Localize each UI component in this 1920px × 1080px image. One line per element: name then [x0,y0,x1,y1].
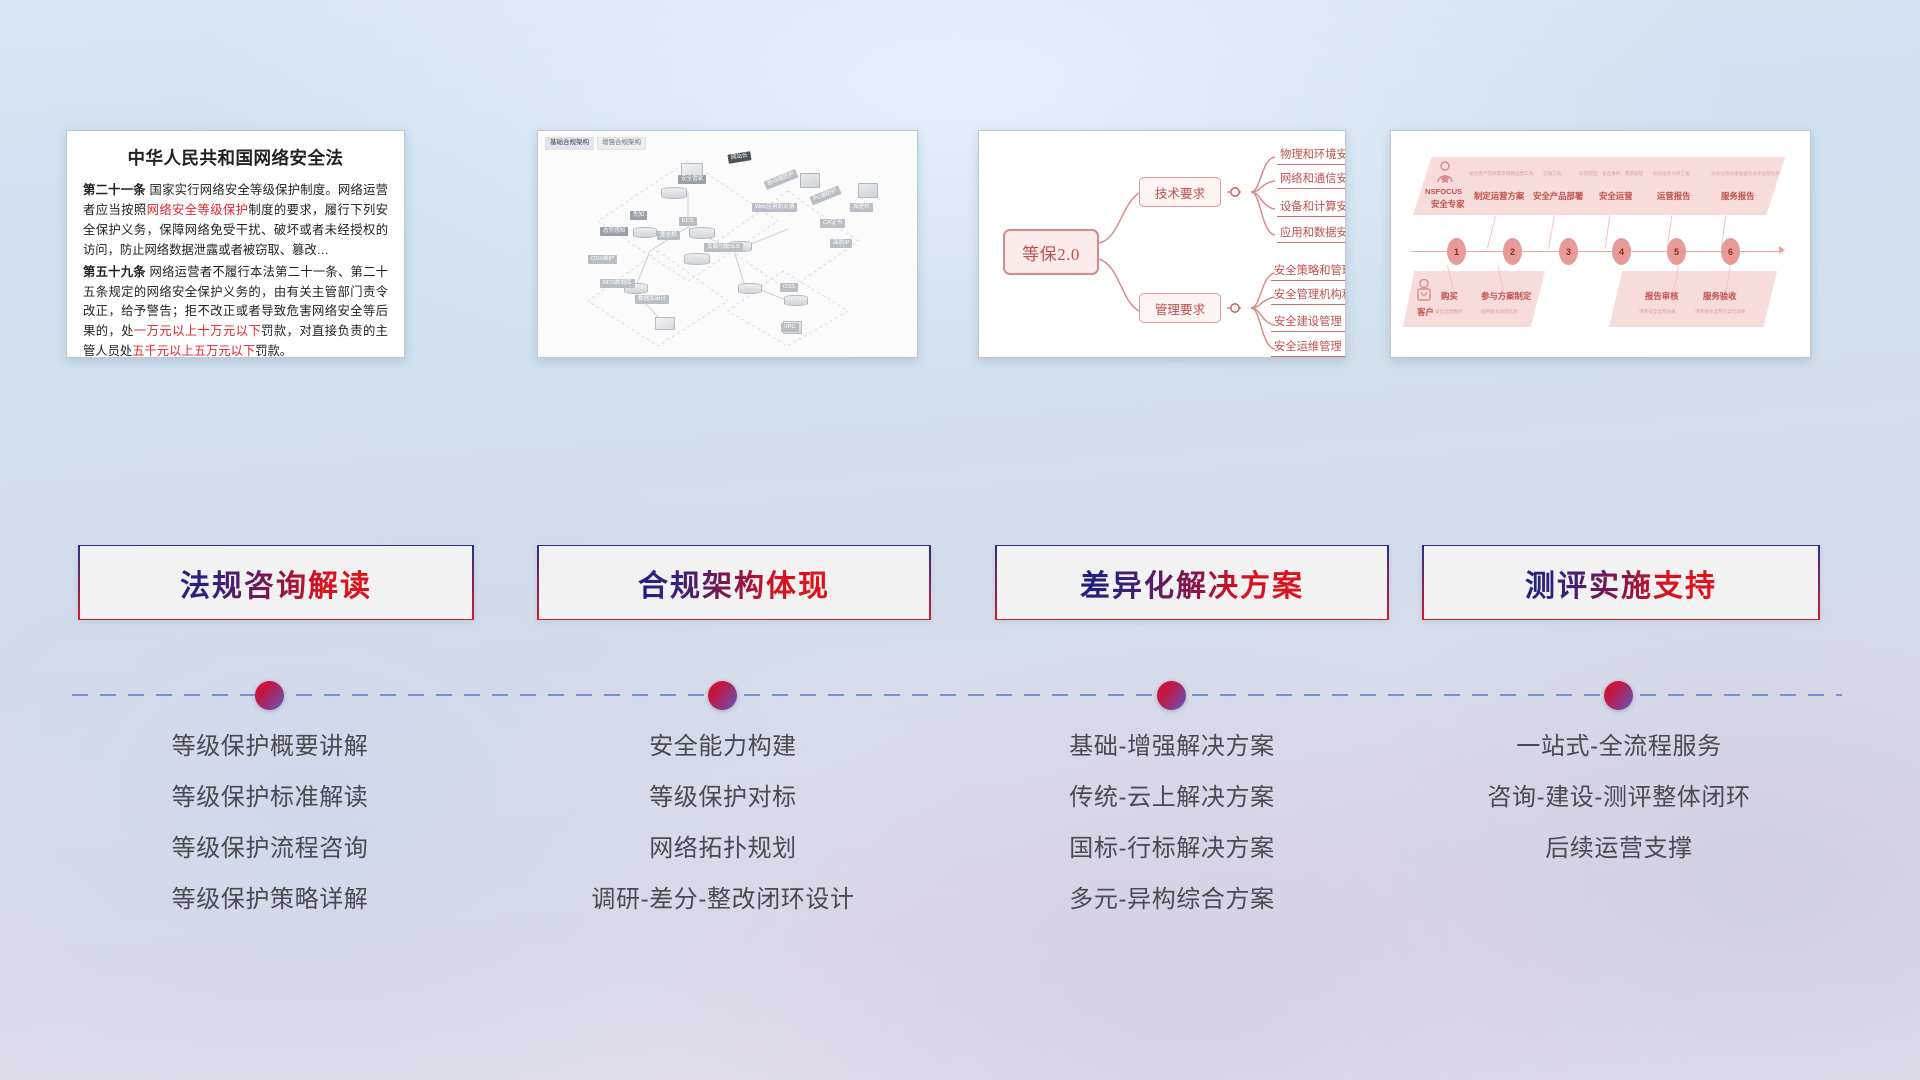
mindmap-leaf-physical-environment-security[interactable]: 物理和环境安全 [1277,149,1346,165]
bottom-step-title-3: 报告审核 [1645,291,1679,301]
step-title-5: 服务报告 [1721,191,1755,201]
arch-label-anti-ddos-ip: 高防IP [830,239,852,248]
timeline-tick [1605,215,1611,249]
list-item: 基础-增强解决方案 [957,735,1387,759]
column-differentiated-solution: 基础-增强解决方案 传统-云上解决方案 国标-行标解决方案 多元-异构综合方案 [957,735,1387,939]
headline-label: 测评实施支持 [1525,561,1717,605]
law-article-21-highlight: 网络安全等级保护 [147,203,249,217]
security-expert-icon [1435,161,1455,183]
list-item: 等级保护对标 [508,786,938,810]
list-item: 多元-异构综合方案 [957,888,1387,912]
column-assessment-support: 一站式-全流程服务 咨询-建设-测评整体闭环 后续运营支撑 [1404,735,1834,888]
law-title: 中华人民共和国网络安全法 [83,145,388,170]
timeline-step-number: 1 [1447,238,1466,265]
nsfocus-brand-sub: 安全专家 [1431,199,1465,209]
mindmap-branch-technical[interactable]: 技术要求 [1139,177,1221,207]
timeline-step-number: 4 [1612,238,1631,265]
headline-box-assessment-support[interactable]: 测评实施支持 [1422,545,1820,620]
timeline-arrow-icon [1779,246,1785,254]
list-item: 一站式-全流程服务 [1404,735,1834,759]
list-item: 传统-云上解决方案 [957,786,1387,810]
bottom-step-sub-3: 评审安全运营效果 [1639,309,1676,315]
arch-monitor-icon [800,173,820,188]
timeline-tick [1487,215,1496,248]
law-article-59-label: 第五十九条 [83,265,146,279]
step-title-4: 运营报告 [1657,191,1691,201]
customer-label: 客户 [1417,307,1434,317]
arch-label-oss: OSS [780,283,798,292]
column-compliance-architecture: 安全能力构建 等级保护对标 网络拓扑规划 调研-差分-整改闭环设计 [508,735,938,939]
timeline-node-2[interactable] [708,681,737,710]
list-item: 等级保护流程咨询 [55,837,485,861]
step-sub-4: 阶段运营效果汇报 [1653,171,1690,177]
mindmap-root[interactable]: 等保2.0 [1003,229,1099,275]
mindmap-leaf-security-policy-management-system[interactable]: 安全策略和管理制度 [1271,265,1346,281]
mindmap-branch-management[interactable]: 管理要求 [1139,293,1221,323]
list-item: 等级保护概要讲解 [55,735,485,759]
arch-node-icon [655,317,675,330]
mindmap-leaf-application-data-security[interactable]: 应用和数据安全 [1277,227,1346,243]
law-article-59-highlight-1: 一万元以上十万元以下 [134,324,261,338]
mindmap-leaf-device-computing-security[interactable]: 设备和计算安全 [1277,201,1346,217]
arch-label-situational-awareness: 态势感知 [600,227,628,236]
step-title-1: 制定运营方案 [1474,191,1524,201]
law-article-59: 第五十九条 网络运营者不履行本法第二十一条、第二十五条规定的网络安全保护义务的，… [83,263,388,358]
arch-label-rds-database: RDS数据库 [600,279,635,288]
customer-icon [1415,279,1433,303]
bottom-step-title-4: 服务验收 [1703,291,1737,301]
mindmap-leaf-security-management-org-personnel[interactable]: 安全管理机构和人员 [1271,289,1346,305]
timeline-node-4[interactable] [1604,681,1633,710]
arch-label-db-audit: 数据库审计 [635,295,669,304]
timeline-node-3[interactable] [1157,681,1186,710]
arch-cylinder-icon [684,253,710,265]
mindmap-leaf-security-construction-management[interactable]: 安全建设管理 [1271,316,1345,332]
arch-monitor-icon [858,183,878,198]
law-article-59-text-c: 罚款。 [255,344,292,358]
arch-label-security-butler: 安全管家 [678,175,706,184]
arch-label-oss-maintenance: OSS维护 [588,255,617,264]
step-sub-1: 结合客户实际需求明确运营工具 [1469,171,1533,177]
bottom-step-sub-2: 提供基本现状信息 [1481,309,1518,315]
arch-label-xianzhi: 先知 [630,211,647,220]
arch-label-slb: 负载均衡SLB [704,243,743,252]
arch-label-encryption-machine: 加密机 [850,203,873,212]
timeline-node-1[interactable] [255,681,284,710]
timeline-step-number: 6 [1721,238,1740,265]
headline-box-differentiated-solution[interactable]: 差异化解决方案 [995,545,1389,620]
arch-cylinder-icon [738,283,762,294]
headline-label: 差异化解决方案 [1080,561,1304,605]
arch-label-ca-certificate: CA证书 [820,219,845,228]
step-title-3: 安全运营 [1599,191,1633,201]
arch-label-vpc: VPC [781,323,799,332]
timeline-top-band [1413,157,1785,215]
timeline-bottom-band-right [1609,271,1777,327]
headline-box-compliance-architecture[interactable]: 合规架构体现 [537,545,931,620]
bottom-step-sub-1: 安全运营服务 [1435,309,1463,315]
list-item: 国标-行标解决方案 [957,837,1387,861]
timeline-step-number: 5 [1667,238,1686,265]
arch-cylinder-icon [633,227,657,238]
list-item: 等级保护策略详解 [55,888,485,912]
card-compliance-architecture[interactable]: 基础合规架构 增强合规架构 [537,130,918,358]
arch-cylinder-icon [689,227,715,239]
headline-label: 法规咨询解读 [180,561,372,605]
arch-cylinder-icon [661,187,687,199]
arch-label-waf: Web应用防火墙 [752,203,797,212]
arch-label-ecs: ECS [679,217,697,226]
step-sub-2: 实施方案 [1543,171,1561,177]
card-assessment-timeline[interactable]: NSFOCUS 安全专家 客户 结合客户实际需求明确运营工具 制定运营方案 实施… [1390,130,1811,358]
law-article-21: 第二十一条 国家实行网络安全等级保护制度。网络运营者应当按照网络安全等级保护制度… [83,181,388,261]
card-cybersecurity-law[interactable]: 中华人民共和国网络安全法 第二十一条 国家实行网络安全等级保护制度。网络运营者应… [66,130,405,358]
column-regulation-consulting: 等级保护概要讲解 等级保护标准解读 等级保护流程咨询 等级保护策略详解 [55,735,485,939]
mindmap-leaf-security-operations-management[interactable]: 安全运维管理 [1271,341,1345,357]
bottom-step-title-2: 参与方案制定 [1481,291,1531,301]
law-document: 中华人民共和国网络安全法 第二十一条 国家实行网络安全等级保护制度。网络运营者应… [67,131,404,358]
step-title-2: 安全产品部署 [1533,191,1583,201]
step-sub-3: 日常巡检、安全事件、需求处理 [1579,171,1643,177]
mindmap-leaf-network-communication-security[interactable]: 网络和通信安全 [1277,173,1346,189]
nsfocus-brand: NSFOCUS [1425,187,1462,196]
dashed-timeline [72,694,1842,696]
bottom-step-sub-4: 评审整体运营方案化效果 [1695,309,1746,315]
timeline-step-number: 2 [1503,238,1522,265]
nsfocus-timeline: NSFOCUS 安全专家 客户 结合客户实际需求明确运营工具 制定运营方案 实施… [1391,131,1810,357]
card-dengbao-mindmap[interactable]: 等保2.0 技术要求 物理和环境安全 网络和通信安全 设备和计算安全 应用和数据… [978,130,1346,358]
slide-canvas: 中华人民共和国网络安全法 第二十一条 国家实行网络安全等级保护制度。网络运营者应… [0,0,1920,1080]
list-item: 咨询-建设-测评整体闭环 [1404,786,1834,810]
law-article-21-label: 第二十一条 [83,183,146,197]
list-item: 后续运营支撑 [1404,837,1834,861]
bottom-step-title-1: 购买 [1441,291,1458,301]
architecture-diagram: 基础合规架构 增强合规架构 [538,131,917,357]
step-sub-5: 总体运营效果复盘及总体运营效果 [1711,171,1780,177]
list-item: 安全能力构建 [508,735,938,759]
list-item: 调研-差分-整改闭环设计 [508,888,938,912]
mindmap: 等保2.0 技术要求 物理和环境安全 网络和通信安全 设备和计算安全 应用和数据… [979,131,1345,357]
arch-cylinder-icon [784,295,808,306]
timeline-step-number: 3 [1559,238,1578,265]
headline-label: 合规架构体现 [638,561,830,605]
arch-label-bastion-host: 堡垒机 [657,231,680,240]
law-article-59-highlight-2: 五千元以上五万元以下 [132,344,255,358]
list-item: 等级保护标准解读 [55,786,485,810]
timeline-tick [1548,215,1555,249]
list-item: 网络拓扑规划 [508,837,938,861]
headline-box-regulation-consulting[interactable]: 法规咨询解读 [78,545,474,620]
